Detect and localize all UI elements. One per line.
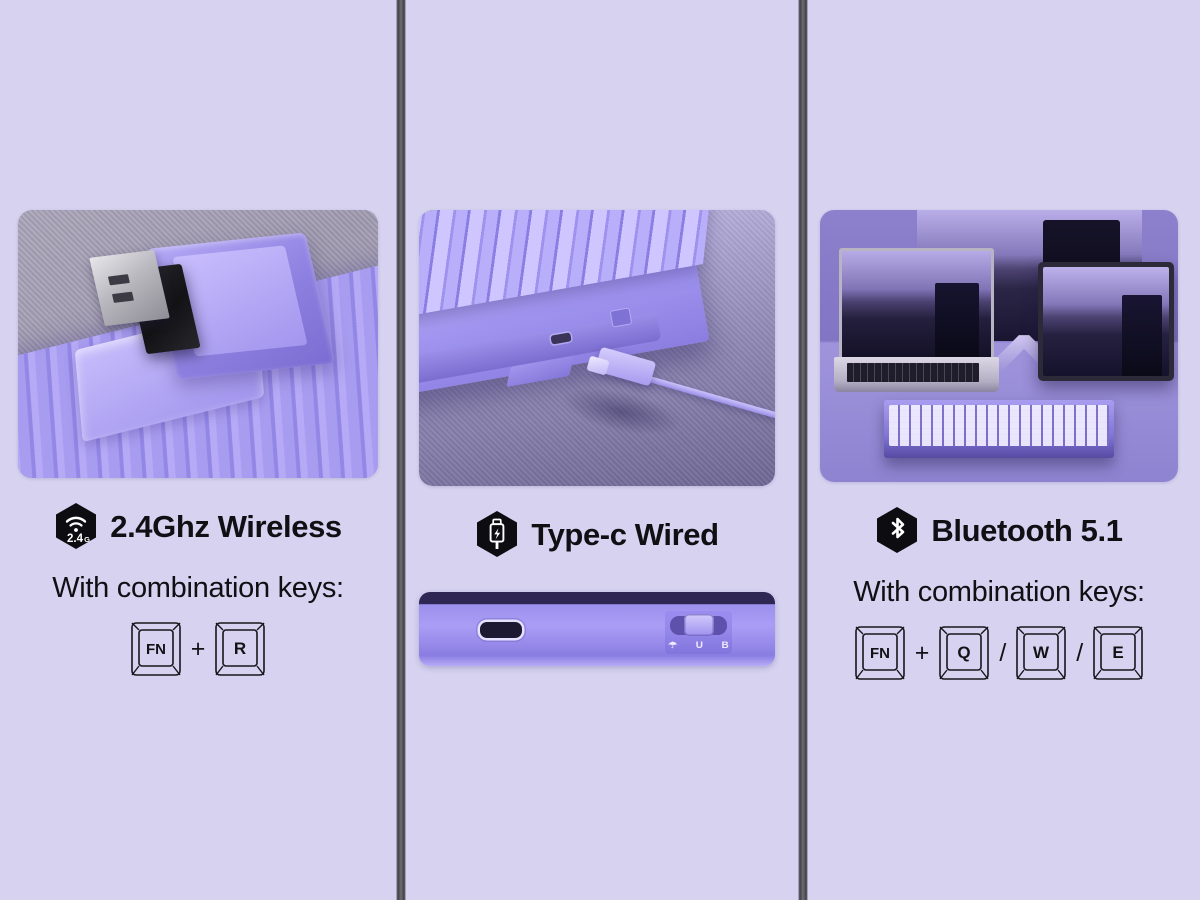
key-separator-plus: + <box>189 637 208 662</box>
svg-text:W: W <box>1033 643 1050 662</box>
keycap-q: Q <box>938 625 990 681</box>
svg-text:FN: FN <box>870 645 890 662</box>
combination-keys-label: With combination keys: <box>52 572 344 605</box>
svg-text:Q: Q <box>958 643 971 662</box>
panel-divider-2 <box>798 0 808 900</box>
svg-text:G: G <box>84 535 90 544</box>
svg-text:2.4: 2.4 <box>67 533 84 545</box>
tablet <box>1038 262 1174 382</box>
svg-text:E: E <box>1113 643 1124 662</box>
bluetooth-mark-label: B <box>721 642 728 651</box>
feature-panels-board: 2.4 G 2.4Ghz Wireless With combination k… <box>0 0 1200 900</box>
keyboard-edge-strip: ☂ U B <box>419 592 775 666</box>
photo-type-c-cable <box>419 210 775 486</box>
usb-c-plug-hex-icon <box>475 510 519 558</box>
photo-multi-device <box>820 210 1178 482</box>
svg-text:R: R <box>234 639 246 658</box>
combination-keys-label: With combination keys: <box>853 576 1145 609</box>
laptop-keyboard <box>847 363 979 382</box>
panel-wireless-24ghz: 2.4 G 2.4Ghz Wireless With combination k… <box>0 0 396 900</box>
photo-usb-dongle <box>18 210 378 478</box>
wireless-keyboard <box>884 400 1113 457</box>
keys-row-wireless: FN + R <box>130 621 267 677</box>
title-row-type-c: Type-c Wired <box>475 510 718 558</box>
svg-text:FN: FN <box>146 641 166 658</box>
panel-type-c-wired: Type-c Wired ☂ U B <box>396 0 798 900</box>
title-row-bluetooth: Bluetooth 5.1 <box>875 506 1122 554</box>
wifi-mark-icon: ☂ <box>668 642 677 651</box>
key-separator-plus: + <box>913 641 932 666</box>
bluetooth-hex-icon <box>875 506 919 554</box>
keys-row-bluetooth: FN + Q / <box>854 625 1145 681</box>
laptop <box>834 248 999 395</box>
tablet-wallpaper <box>1043 267 1169 377</box>
wifi-24g-hex-icon: 2.4 G <box>54 502 98 550</box>
usb-c-port <box>480 622 523 638</box>
switch-mode-marks: ☂ U B <box>668 638 729 654</box>
key-separator-slash-2: / <box>1074 641 1085 666</box>
panel-title: Type-c Wired <box>531 519 718 550</box>
key-separator-slash-1: / <box>997 641 1008 666</box>
keycap-fn: FN <box>854 625 906 681</box>
keycap-e: E <box>1092 625 1144 681</box>
switch-knob[interactable] <box>684 614 714 636</box>
panel-title: 2.4Ghz Wireless <box>110 511 342 542</box>
panel-bluetooth-51: Bluetooth 5.1 With combination keys: FN … <box>798 0 1200 900</box>
keycap-w: W <box>1015 625 1067 681</box>
usb-mark-label: U <box>696 642 703 651</box>
panel-title: Bluetooth 5.1 <box>931 515 1122 546</box>
laptop-screen <box>839 248 994 360</box>
keycap-fn: FN <box>130 621 182 677</box>
keycap-r: R <box>214 621 266 677</box>
panel-divider-1 <box>396 0 406 900</box>
title-row-wireless: 2.4 G 2.4Ghz Wireless <box>54 502 342 550</box>
